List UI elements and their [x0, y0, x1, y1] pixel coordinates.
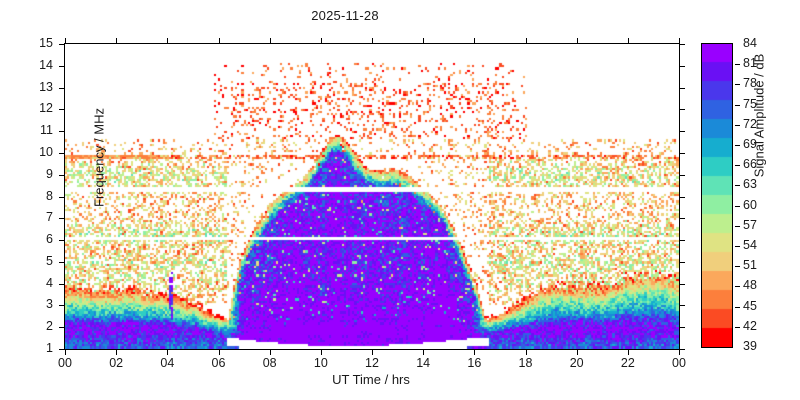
x-tick-top [628, 38, 629, 44]
x-tick-top [577, 38, 578, 44]
x-tick-label: 10 [301, 356, 341, 370]
x-tick-top [474, 38, 475, 44]
x-tick-top [219, 38, 220, 44]
x-tick-top [679, 38, 680, 44]
y-tick [59, 262, 65, 263]
y-tick-label: 1 [29, 342, 53, 355]
colorbar-tick [735, 286, 740, 287]
y-tick-label: 11 [29, 124, 53, 137]
y-tick-label: 4 [29, 277, 53, 290]
x-tick-top [270, 38, 271, 44]
x-tick-top [321, 38, 322, 44]
colorbar-tick [735, 185, 740, 186]
page-title: 2025-11-28 [0, 8, 690, 23]
y-tick [59, 109, 65, 110]
x-axis-title: UT Time / hrs [64, 372, 678, 387]
x-tick [116, 349, 117, 355]
colorbar-tick [735, 165, 740, 166]
x-tick-label: 12 [352, 356, 392, 370]
x-tick-label: 04 [147, 356, 187, 370]
colorbar-tick [735, 64, 740, 65]
y-tick-right [679, 240, 685, 241]
y-tick-right [679, 218, 685, 219]
y-tick-right [679, 175, 685, 176]
y-tick [59, 218, 65, 219]
colorbar-tick-label: 45 [743, 300, 757, 313]
colorbar-tick [735, 84, 740, 85]
x-tick [167, 349, 168, 355]
y-tick-right [679, 327, 685, 328]
colorbar-tick-label: 51 [743, 259, 757, 272]
x-tick-label: 18 [506, 356, 546, 370]
y-tick [59, 305, 65, 306]
y-tick-right [679, 305, 685, 306]
x-tick-top [167, 38, 168, 44]
y-tick-right [679, 66, 685, 67]
y-tick [59, 131, 65, 132]
colorbar-tick [735, 226, 740, 227]
y-tick-label: 10 [29, 146, 53, 159]
y-tick-label: 7 [29, 211, 53, 224]
y-tick-label: 2 [29, 320, 53, 333]
y-tick [59, 153, 65, 154]
colorbar-tick [735, 246, 740, 247]
colorbar-tick [735, 206, 740, 207]
y-tick [59, 175, 65, 176]
x-tick-label: 20 [557, 356, 597, 370]
spectrogram-canvas [65, 44, 679, 349]
x-tick-top [372, 38, 373, 44]
colorbar-tick-label: 48 [743, 279, 757, 292]
x-tick-label: 14 [403, 356, 443, 370]
colorbar: 84817875726966636057545148454239 [701, 43, 733, 348]
x-tick-label: 02 [96, 356, 136, 370]
colorbar-tick [735, 145, 740, 146]
colorbar-tick [735, 327, 740, 328]
x-tick [474, 349, 475, 355]
y-tick-right [679, 153, 685, 154]
y-tick-right [679, 262, 685, 263]
x-tick-label: 16 [454, 356, 494, 370]
y-tick [59, 44, 65, 45]
x-tick-label: 00 [659, 356, 699, 370]
y-tick-right [679, 284, 685, 285]
colorbar-tick-label: 42 [743, 320, 757, 333]
plot-area: 123456789101112131415 000204060810121416… [64, 43, 680, 350]
x-tick [321, 349, 322, 355]
y-tick-label: 15 [29, 37, 53, 50]
x-tick-top [526, 38, 527, 44]
y-tick [59, 197, 65, 198]
x-tick [526, 349, 527, 355]
y-tick-right [679, 88, 685, 89]
y-tick-right [679, 109, 685, 110]
y-tick-label: 3 [29, 298, 53, 311]
y-tick [59, 66, 65, 67]
x-tick [628, 349, 629, 355]
y-tick-label: 6 [29, 233, 53, 246]
y-tick-right [679, 131, 685, 132]
x-tick-label: 00 [45, 356, 85, 370]
x-tick [423, 349, 424, 355]
y-tick-label: 8 [29, 190, 53, 203]
colorbar-tick-label: 39 [743, 340, 757, 353]
x-tick-top [423, 38, 424, 44]
y-tick-label: 9 [29, 168, 53, 181]
x-tick-label: 08 [250, 356, 290, 370]
y-axis-title: Frequency / MHz [92, 28, 107, 288]
x-tick [219, 349, 220, 355]
x-tick-top [116, 38, 117, 44]
colorbar-title: Signal Amplitude / dB [752, 0, 767, 246]
x-tick [270, 349, 271, 355]
colorbar-gradient [701, 43, 733, 348]
y-tick-right [679, 197, 685, 198]
x-tick [372, 349, 373, 355]
x-tick-label: 06 [199, 356, 239, 370]
x-tick [679, 349, 680, 355]
y-tick-label: 13 [29, 81, 53, 94]
colorbar-tick [735, 105, 740, 106]
x-tick-top [65, 38, 66, 44]
colorbar-tick [735, 266, 740, 267]
colorbar-tick [735, 307, 740, 308]
y-tick [59, 327, 65, 328]
y-tick-label: 12 [29, 102, 53, 115]
colorbar-tick [735, 125, 740, 126]
x-tick [65, 349, 66, 355]
y-tick [59, 240, 65, 241]
y-tick [59, 284, 65, 285]
spectrogram-figure: 2025-11-28 123456789101112131415 0002040… [0, 0, 800, 400]
x-tick-label: 22 [608, 356, 648, 370]
x-tick [577, 349, 578, 355]
y-tick-right [679, 44, 685, 45]
y-tick-label: 14 [29, 59, 53, 72]
y-tick-label: 5 [29, 255, 53, 268]
y-tick [59, 88, 65, 89]
